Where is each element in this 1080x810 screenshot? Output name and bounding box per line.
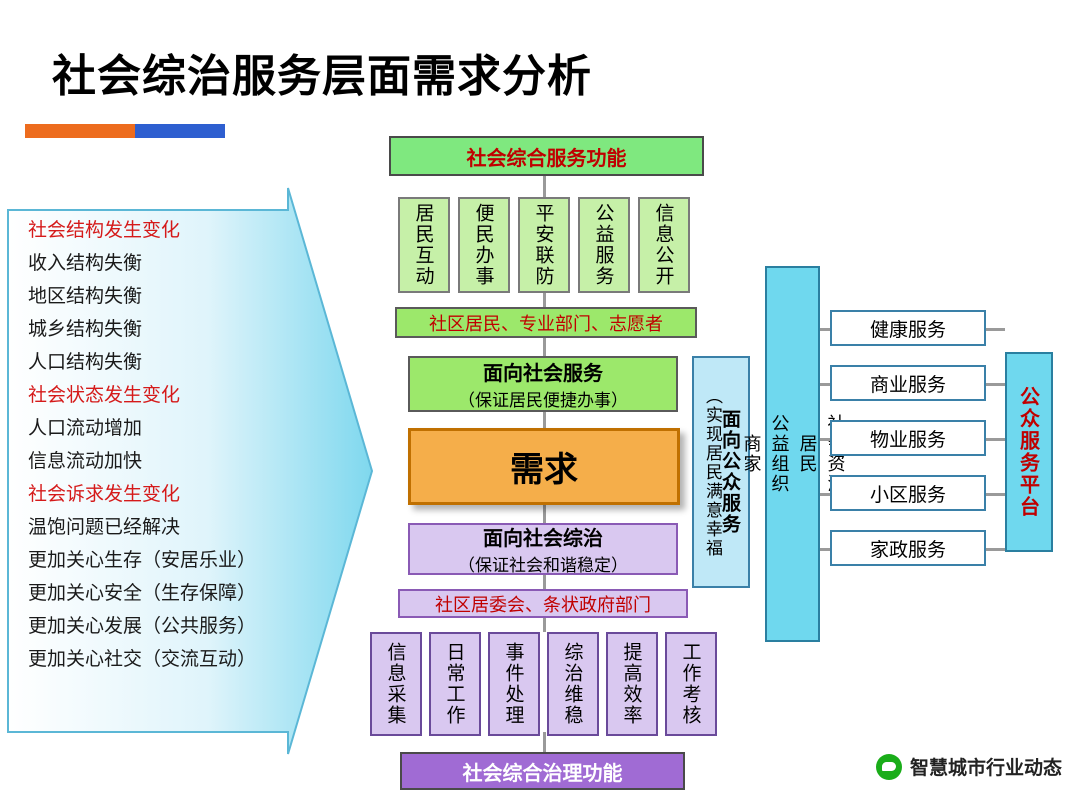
left-line-9: 温饱问题已经解决 [28,511,288,544]
left-line-12: 更加关心发展（公共服务） [28,610,288,643]
accent-bar-segment-orange [25,124,135,138]
page-title: 社会综治服务层面需求分析 [52,40,592,104]
connector-platform-4 [985,548,1005,551]
facing-social-service-box[interactable]: 面向社会服务 （保证居民便捷办事） [408,356,678,412]
left-line-0: 社会结构发生变化 [28,214,288,247]
right-service-3[interactable]: 小区服务 [830,475,986,511]
public-service-platform-box[interactable]: 公众服务平台 [1005,352,1053,552]
left-line-4: 人口结构失衡 [28,346,288,379]
facing-public-service-label: 面向公众服务 [720,409,739,535]
resources-box[interactable]: 商家 公益组织 居民 社会资源 [765,266,820,642]
service-item-3[interactable]: 公益服务 [578,197,630,293]
connector-platform-1 [985,383,1005,386]
left-line-7: 信息流动加快 [28,445,288,478]
social-service-function-header[interactable]: 社会综合服务功能 [389,136,704,176]
service-item-1[interactable]: 便民办事 [458,197,510,293]
watermark: 智慧城市行业动态 [876,753,1062,780]
service-items-row: 居民互动 便民办事 平安联防 公益服务 信息公开 [398,197,690,293]
governance-actors-box[interactable]: 社区居委会、条状政府部门 [398,589,688,618]
service-item-4[interactable]: 信息公开 [638,197,690,293]
left-line-8: 社会诉求发生变化 [28,478,288,511]
watermark-label: 智慧城市行业动态 [910,753,1062,780]
connector-demand-top [543,412,546,428]
governance-item-5[interactable]: 工作考核 [665,632,717,736]
accent-bar [25,124,225,138]
connector-governance-items [543,618,546,632]
right-service-4[interactable]: 家政服务 [830,530,986,566]
left-line-11: 更加关心安全（生存保障） [28,577,288,610]
left-line-1: 收入结构失衡 [28,247,288,280]
left-line-10: 更加关心生存（安居乐业） [28,544,288,577]
facing-social-service-sub: （保证居民便捷办事） [458,386,628,411]
connector-demand-bottom [543,505,546,523]
governance-item-3[interactable]: 综治维稳 [547,632,599,736]
left-line-3: 城乡结构失衡 [28,313,288,346]
facing-social-governance-box[interactable]: 面向社会综治 （保证社会和谐稳定） [408,523,678,575]
resource-item-1: 公益组织 [770,414,788,494]
accent-bar-segment-blue [135,124,225,138]
social-governance-function-header[interactable]: 社会综合治理功能 [400,752,685,790]
facing-social-governance-title: 面向社会综治 [483,522,603,551]
left-line-5: 社会状态发生变化 [28,379,288,412]
resource-item-2: 居民 [798,434,816,474]
right-service-2[interactable]: 物业服务 [830,420,986,456]
governance-item-2[interactable]: 事件处理 [488,632,540,736]
right-service-1[interactable]: 商业服务 [830,365,986,401]
service-item-0[interactable]: 居民互动 [398,197,450,293]
left-panel-text-list: 社会结构发生变化 收入结构失衡 地区结构失衡 城乡结构失衡 人口结构失衡 社会状… [28,214,288,676]
connector-platform-0 [985,328,1005,331]
demand-box[interactable]: 需求 [408,428,680,505]
left-line-13: 更加关心社交（交流互动） [28,643,288,676]
service-actors-box[interactable]: 社区居民、专业部门、志愿者 [395,307,697,338]
resource-item-0: 商家 [742,434,760,474]
left-line-2: 地区结构失衡 [28,280,288,313]
facing-social-service-title: 面向社会服务 [483,357,603,386]
governance-items-row: 信息采集 日常工作 事件处理 综治维稳 提高效率 工作考核 [370,632,717,736]
connector-governance-actors [543,575,546,589]
facing-social-governance-sub: （保证社会和谐稳定） [458,551,628,576]
governance-item-4[interactable]: 提高效率 [606,632,658,736]
connector-platform-2 [985,438,1005,441]
left-arrow-panel: 社会结构发生变化 收入结构失衡 地区结构失衡 城乡结构失衡 人口结构失衡 社会状… [6,186,374,756]
right-service-0[interactable]: 健康服务 [830,310,986,346]
left-line-6: 人口流动增加 [28,412,288,445]
service-item-2[interactable]: 平安联防 [518,197,570,293]
governance-item-0[interactable]: 信息采集 [370,632,422,736]
wechat-icon [876,754,902,780]
facing-public-service-paren: （实现居民满意幸福 [703,387,720,558]
connector-service-header [543,175,546,197]
governance-item-1[interactable]: 日常工作 [429,632,481,736]
connector-facing-service [543,338,546,356]
connector-platform-3 [985,493,1005,496]
